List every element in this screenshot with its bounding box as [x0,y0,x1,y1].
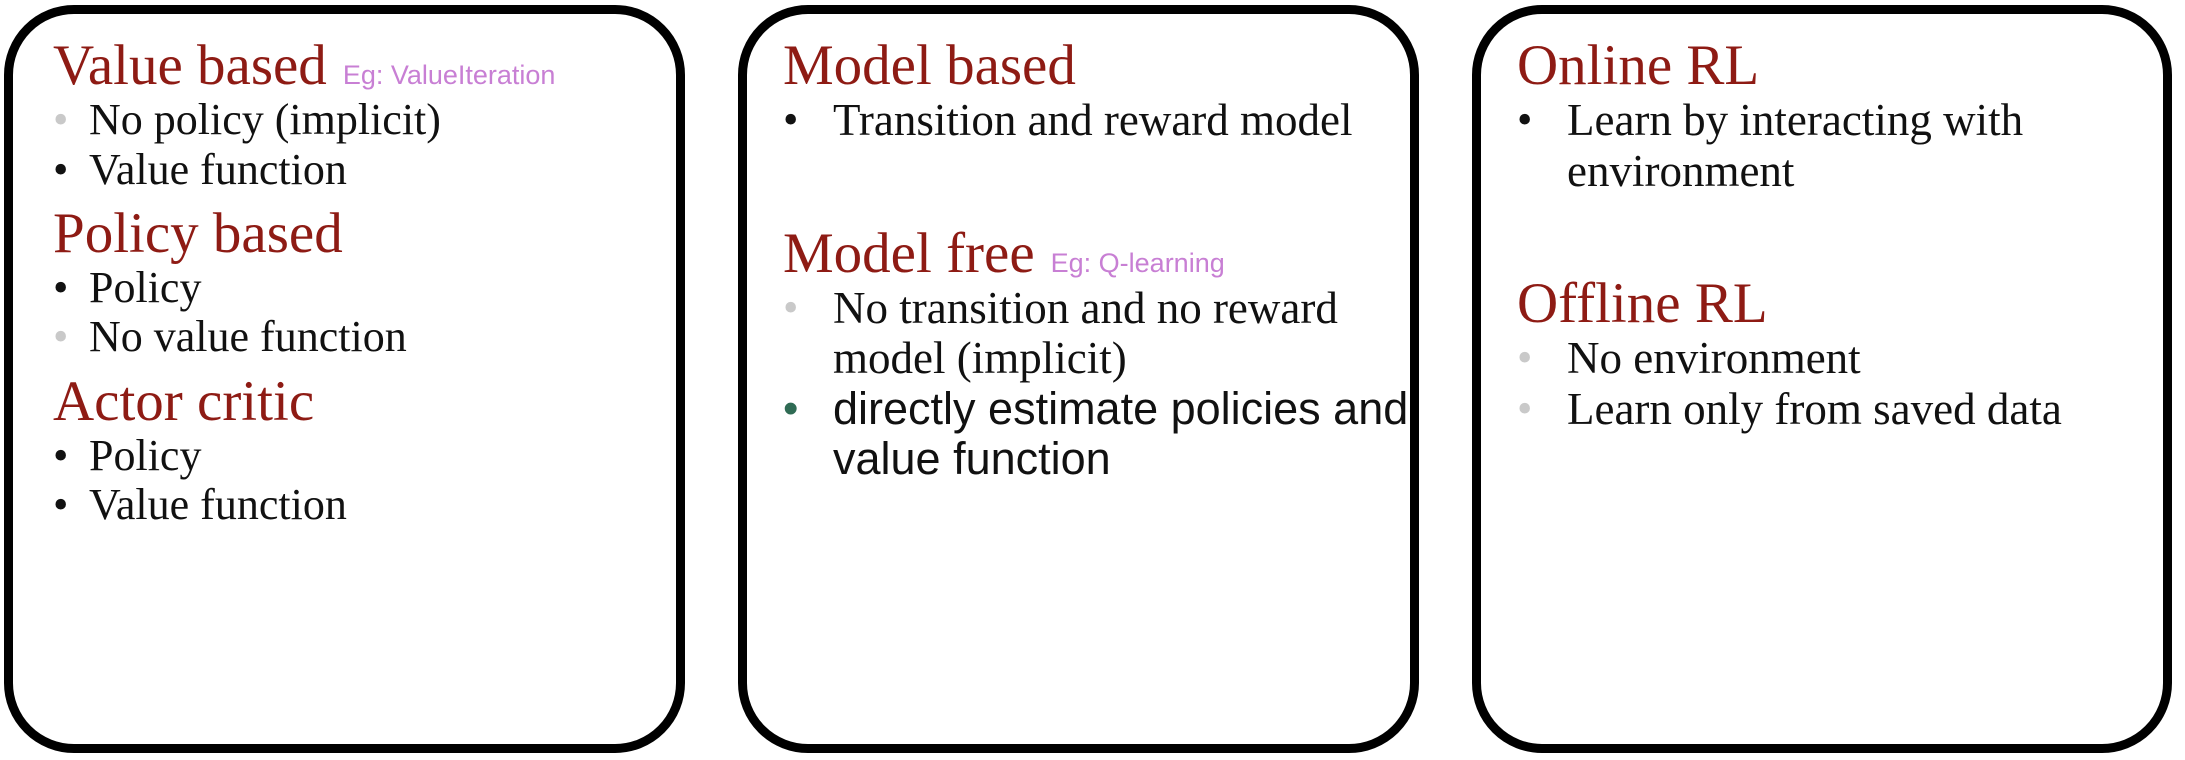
diagram-board: Value based Eg: ValueIteration • No poli… [0,0,2185,760]
list-item-label: Policy [89,263,676,312]
section-header-value-based: Value based Eg: ValueIteration [13,36,676,95]
list-item-label: Transition and reward model [833,95,1410,145]
example-tag: Eg: Q-learning [1051,250,1225,277]
bullet-icon: • [53,312,89,361]
list-item: • Value function [53,480,676,529]
panel-3-content: Online RL • Learn by interacting with en… [1481,14,2163,744]
list-item: • Learn only from saved data [1517,384,2163,434]
bullet-icon: • [1517,333,1567,382]
bullet-list-policy-based: • Policy • No value function [13,263,676,362]
bullet-icon: • [783,283,833,332]
section-header-offline-rl: Offline RL [1481,274,2163,333]
bullet-icon: • [1517,384,1567,433]
list-item-label: No value function [89,312,676,361]
list-item-label: No environment [1567,333,2163,383]
example-tag: Eg: ValueIteration [343,62,556,89]
section-heading: Model free [783,224,1035,283]
section-heading: Online RL [1517,36,1759,95]
panel-online-offline-rl: Online RL • Learn by interacting with en… [1472,5,2172,753]
list-item: • Learn by interacting with environment [1517,95,2163,196]
list-item: • No policy (implicit) [53,95,676,144]
list-item: • Policy [53,431,676,480]
list-item-label: No transition and no reward model (impli… [833,283,1410,384]
section-header-policy-based: Policy based [13,204,676,263]
bullet-icon: • [783,95,833,144]
bullet-list-model-based: • Transition and reward model [747,95,1410,145]
section-heading: Model based [783,36,1076,95]
list-item: • Value function [53,145,676,194]
list-item-label: Value function [89,480,676,529]
bullet-icon: • [53,431,89,480]
bullet-icon: • [53,480,89,529]
bullet-icon: • [53,263,89,312]
bullet-list-value-based: • No policy (implicit) • Value function [13,95,676,194]
section-heading: Value based [53,36,327,95]
section-header-model-free: Model free Eg: Q-learning [747,224,1410,283]
panel-1-content: Value based Eg: ValueIteration • No poli… [13,14,676,744]
list-item: • No environment [1517,333,2163,383]
bullet-icon: • [783,384,833,433]
section-heading: Offline RL [1517,274,1768,333]
panel-model-based-free: Model based • Transition and reward mode… [738,5,1419,753]
section-header-actor-critic: Actor critic [13,372,676,431]
list-item: • directly estimate policies and value f… [783,384,1410,485]
list-item-label: Value function [89,145,676,194]
bullet-list-offline-rl: • No environment • Learn only from saved… [1481,333,2163,434]
list-item: • No transition and no reward model (imp… [783,283,1410,384]
spacer [747,146,1410,224]
panel-2-content: Model based • Transition and reward mode… [747,14,1410,744]
spacer [1481,196,2163,274]
list-item-label: No policy (implicit) [89,95,676,144]
bullet-list-model-free: • No transition and no reward model (imp… [747,283,1410,485]
list-item: • Transition and reward model [783,95,1410,145]
list-item: • No value function [53,312,676,361]
list-item-label: Policy [89,431,676,480]
section-header-online-rl: Online RL [1481,36,2163,95]
list-item: • Policy [53,263,676,312]
bullet-icon: • [53,95,89,144]
bullet-list-online-rl: • Learn by interacting with environment [1481,95,2163,196]
list-item-label: directly estimate policies and value fun… [833,384,1410,485]
bullet-list-actor-critic: • Policy • Value function [13,431,676,530]
bullet-icon: • [53,145,89,194]
list-item-label: Learn by interacting with environment [1567,95,2163,196]
list-item-label: Learn only from saved data [1567,384,2163,434]
section-heading: Policy based [53,204,343,263]
bullet-icon: • [1517,95,1567,144]
section-header-model-based: Model based [747,36,1410,95]
section-heading: Actor critic [53,372,314,431]
panel-value-policy-actor: Value based Eg: ValueIteration • No poli… [4,5,685,753]
